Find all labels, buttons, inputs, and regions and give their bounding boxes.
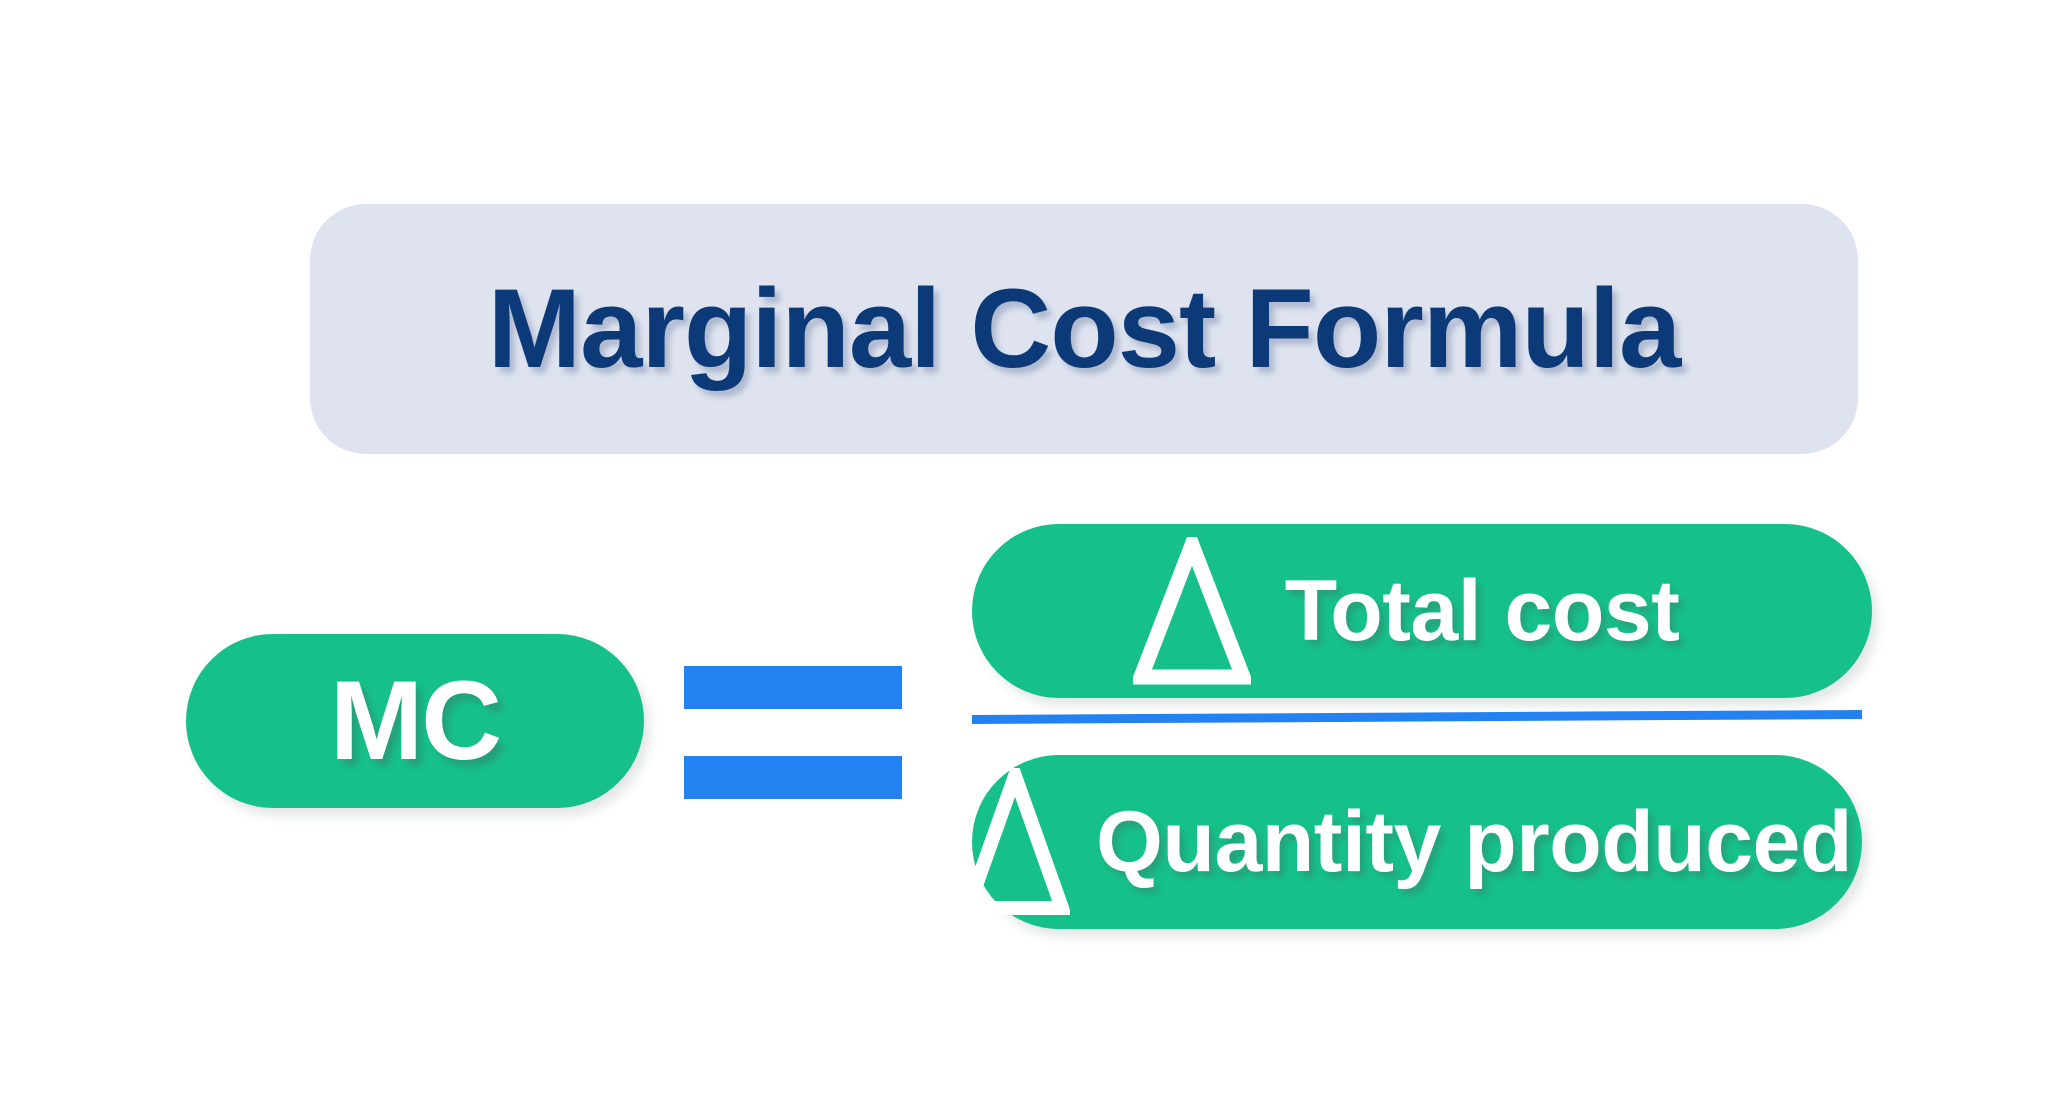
numerator-label: Total cost: [1285, 568, 1680, 654]
equals-bar-bottom: [684, 756, 902, 799]
equals-bar-top: [684, 666, 902, 709]
title-banner: Marginal Cost Formula: [310, 204, 1858, 454]
marginal-cost-label: MC: [330, 665, 500, 777]
marginal-cost-formula-graphic: Marginal Cost Formula MC Total cost Quan…: [0, 0, 2061, 1097]
page-title: Marginal Cost Formula: [488, 273, 1680, 385]
fraction-bar: [972, 710, 1862, 724]
equals-icon: [684, 666, 902, 799]
delta-icon: [960, 768, 1070, 916]
fraction-group: Total cost Quantity produced: [972, 524, 1862, 929]
delta-icon: [1133, 537, 1251, 685]
denominator-label: Quantity produced: [1096, 799, 1852, 885]
marginal-cost-pill: MC: [186, 634, 644, 808]
denominator-pill: Quantity produced: [972, 755, 1862, 929]
numerator-pill: Total cost: [972, 524, 1872, 698]
